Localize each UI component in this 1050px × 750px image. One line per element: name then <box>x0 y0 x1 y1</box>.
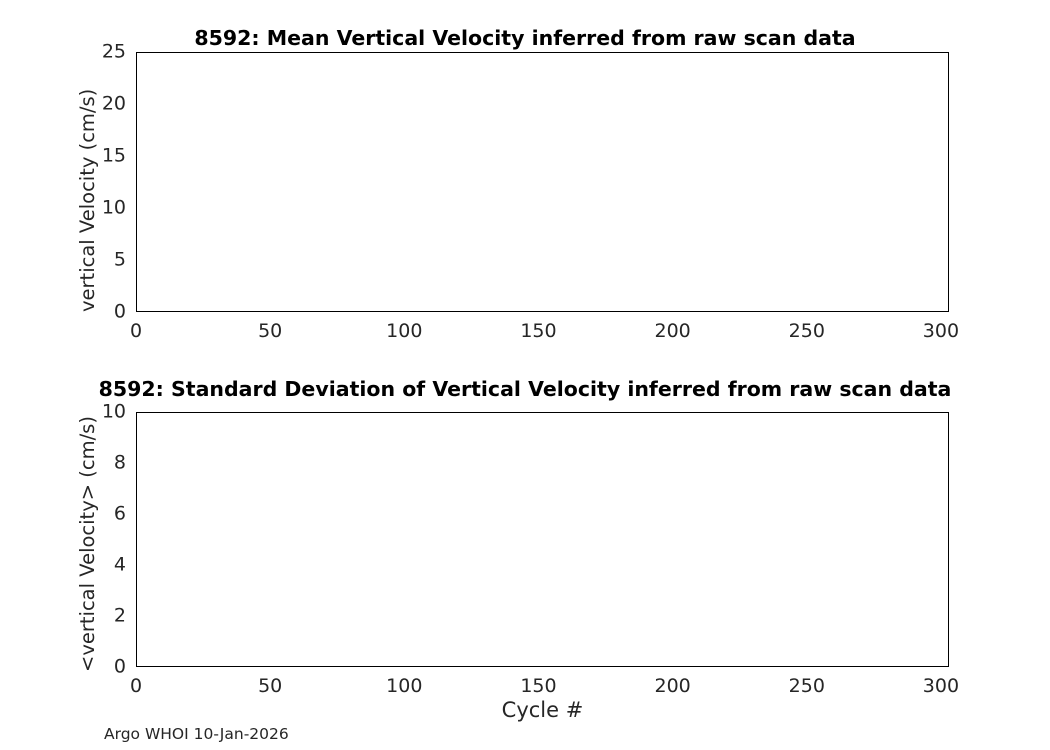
x-tick-label: 0 <box>130 677 142 696</box>
x-tick-label: 100 <box>386 677 422 696</box>
x-tick-label: 200 <box>654 322 690 341</box>
bottom-chart-title: 8592: Standard Deviation of Vertical Vel… <box>0 379 1050 400</box>
y-tick-label: 4 <box>76 556 126 575</box>
bottom-plot-frame <box>136 412 949 667</box>
top-chart-title: 8592: Mean Vertical Velocity inferred fr… <box>0 28 1050 49</box>
y-tick-label: 2 <box>76 607 126 626</box>
argo-float-velocity-figure: 8592: Mean Vertical Velocity inferred fr… <box>0 0 1050 750</box>
bottom-chart-x-axis-label: Cycle # <box>136 700 949 721</box>
y-tick-label: 8 <box>76 454 126 473</box>
top-chart-plot-area <box>136 52 949 312</box>
x-tick-label: 200 <box>654 677 690 696</box>
x-tick-label: 250 <box>789 322 825 341</box>
x-tick-label: 300 <box>923 677 959 696</box>
x-tick-label: 50 <box>258 322 282 341</box>
y-tick-label: 20 <box>76 95 126 114</box>
x-tick-label: 250 <box>789 677 825 696</box>
y-tick-label: 10 <box>76 199 126 218</box>
x-tick-label: 150 <box>520 677 556 696</box>
top-plot-frame <box>136 52 949 312</box>
x-tick-label: 100 <box>386 322 422 341</box>
y-tick-label: 25 <box>76 43 126 62</box>
x-tick-label: 0 <box>130 322 142 341</box>
x-tick-label: 150 <box>520 322 556 341</box>
y-tick-label: 15 <box>76 147 126 166</box>
y-tick-label: 0 <box>76 303 126 322</box>
bottom-chart-plot-area <box>136 412 949 667</box>
x-tick-label: 50 <box>258 677 282 696</box>
y-tick-label: 10 <box>76 403 126 422</box>
y-tick-label: 0 <box>76 658 126 677</box>
x-tick-label: 300 <box>923 322 959 341</box>
y-tick-label: 6 <box>76 505 126 524</box>
y-tick-label: 5 <box>76 251 126 270</box>
figure-footer-note: Argo WHOI 10-Jan-2026 <box>104 727 289 743</box>
